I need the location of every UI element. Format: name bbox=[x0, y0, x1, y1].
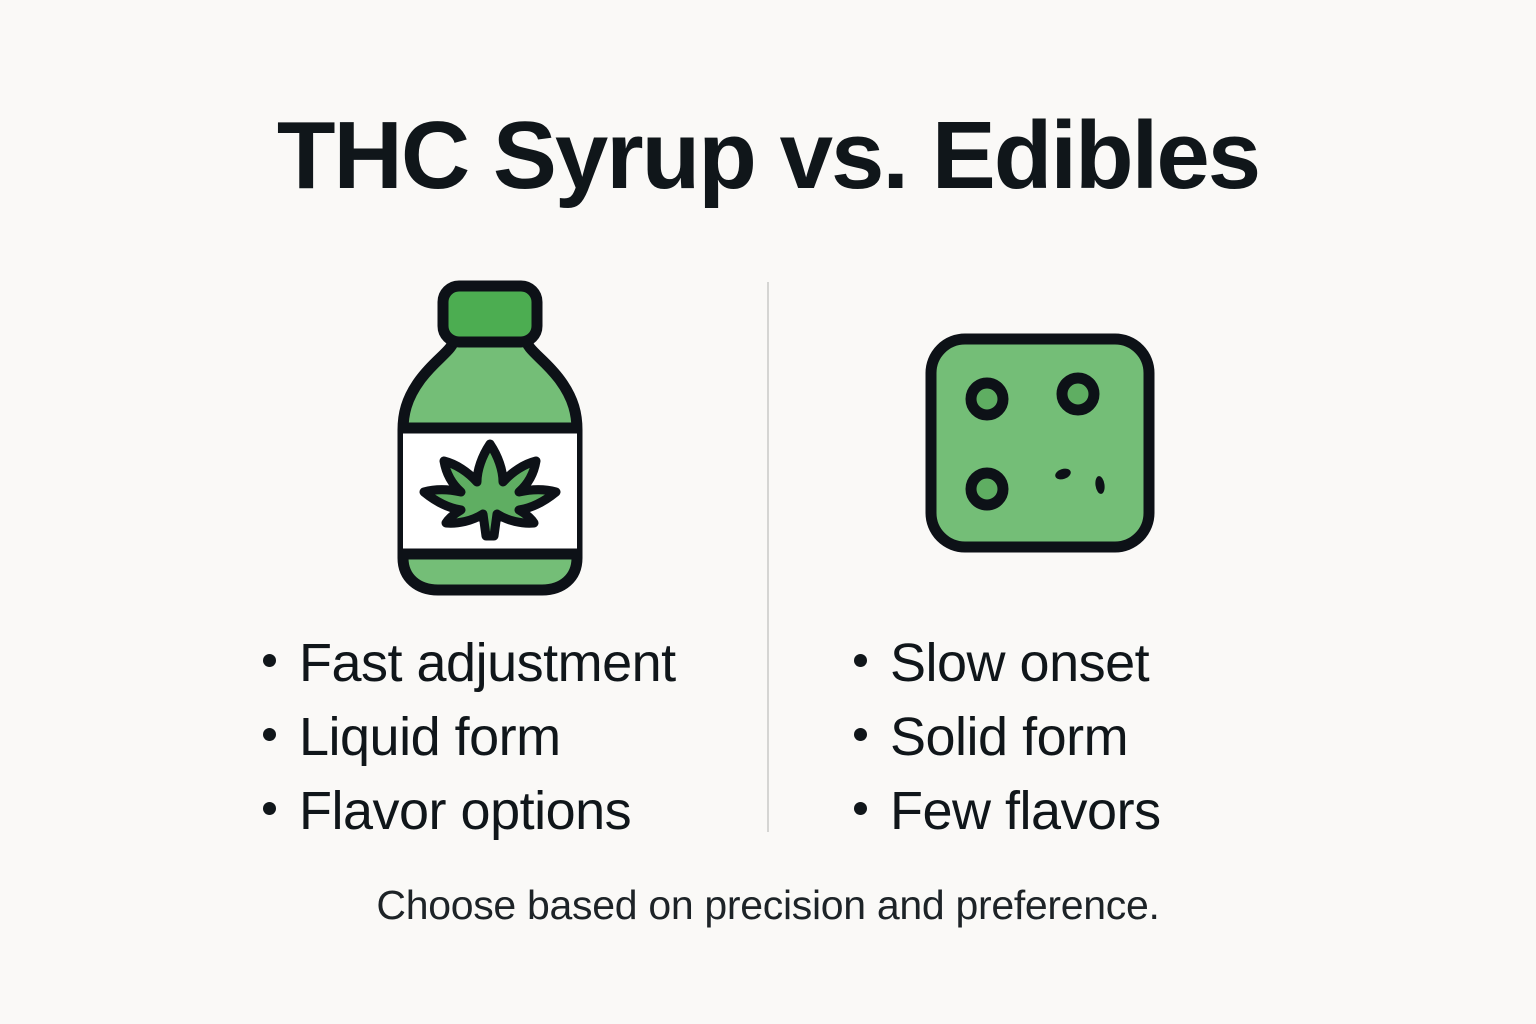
bullet-dot-icon bbox=[854, 802, 867, 815]
edible-icon-area bbox=[776, 270, 1476, 600]
footer-note: Choose based on precision and preference… bbox=[0, 882, 1536, 929]
bullet-dot-icon bbox=[263, 802, 276, 815]
list-item-label: Flavor options bbox=[299, 780, 631, 842]
list-item: Slow onset bbox=[854, 632, 1161, 706]
syrup-icon-area bbox=[60, 270, 760, 600]
list-item: Flavor options bbox=[263, 780, 676, 854]
edible-bullet-list: Slow onset Solid form Few flavors bbox=[854, 632, 1161, 854]
gummy-square-icon bbox=[920, 328, 1160, 563]
bullet-dot-icon bbox=[854, 728, 867, 741]
bullet-dot-icon bbox=[854, 654, 867, 667]
bullet-dot-icon bbox=[263, 728, 276, 741]
infographic-canvas: THC Syrup vs. Edibles bbox=[0, 0, 1536, 1024]
bullet-dot-icon bbox=[263, 654, 276, 667]
syrup-bullet-list: Fast adjustment Liquid form Flavor optio… bbox=[263, 632, 676, 854]
list-item: Solid form bbox=[854, 706, 1161, 780]
list-item-label: Slow onset bbox=[890, 632, 1149, 694]
syrup-bottle-icon bbox=[390, 280, 590, 605]
page-title: THC Syrup vs. Edibles bbox=[0, 108, 1536, 204]
column-edibles: Slow onset Solid form Few flavors bbox=[776, 270, 1476, 850]
list-item: Liquid form bbox=[263, 706, 676, 780]
column-syrup: Fast adjustment Liquid form Flavor optio… bbox=[60, 270, 760, 850]
list-item-label: Liquid form bbox=[299, 706, 561, 768]
column-divider bbox=[767, 282, 769, 832]
list-item-label: Solid form bbox=[890, 706, 1128, 768]
list-item: Fast adjustment bbox=[263, 632, 676, 706]
list-item: Few flavors bbox=[854, 780, 1161, 854]
list-item-label: Fast adjustment bbox=[299, 632, 676, 694]
list-item-label: Few flavors bbox=[890, 780, 1161, 842]
